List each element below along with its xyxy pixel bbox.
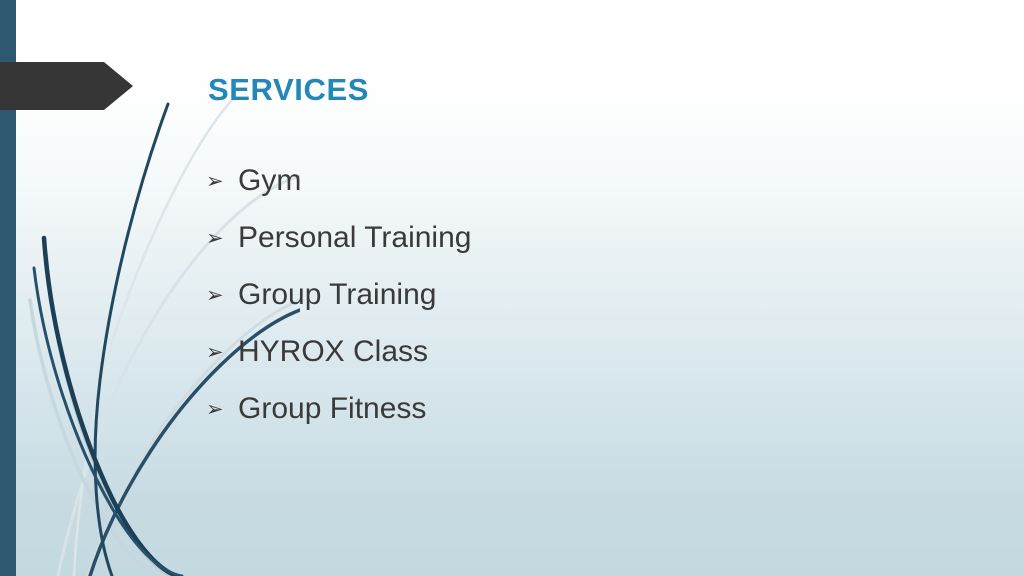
top-white-band xyxy=(0,0,1024,56)
services-list: ➢ Gym ➢ Personal Training ➢ Group Traini… xyxy=(206,166,471,451)
list-item: ➢ Gym xyxy=(206,166,471,223)
arrowhead-bullet-icon: ➢ xyxy=(206,228,238,249)
arrowhead-bullet-icon: ➢ xyxy=(206,285,238,306)
title-arrow-banner xyxy=(0,62,133,110)
list-item: ➢ Personal Training xyxy=(206,223,471,280)
list-item-label: Group Fitness xyxy=(238,394,426,424)
slide-canvas: SERVICES ➢ Gym ➢ Personal Training ➢ Gro… xyxy=(0,0,1024,576)
list-item-label: HYROX Class xyxy=(238,337,428,367)
page-title: SERVICES xyxy=(208,72,369,108)
list-item: ➢ HYROX Class xyxy=(206,337,471,394)
arrowhead-bullet-icon: ➢ xyxy=(206,171,238,192)
list-item-label: Group Training xyxy=(238,280,436,310)
arrowhead-bullet-icon: ➢ xyxy=(206,399,238,420)
list-item-label: Gym xyxy=(238,166,301,196)
arrowhead-bullet-icon: ➢ xyxy=(206,342,238,363)
list-item-label: Personal Training xyxy=(238,223,471,253)
list-item: ➢ Group Training xyxy=(206,280,471,337)
list-item: ➢ Group Fitness xyxy=(206,394,471,451)
